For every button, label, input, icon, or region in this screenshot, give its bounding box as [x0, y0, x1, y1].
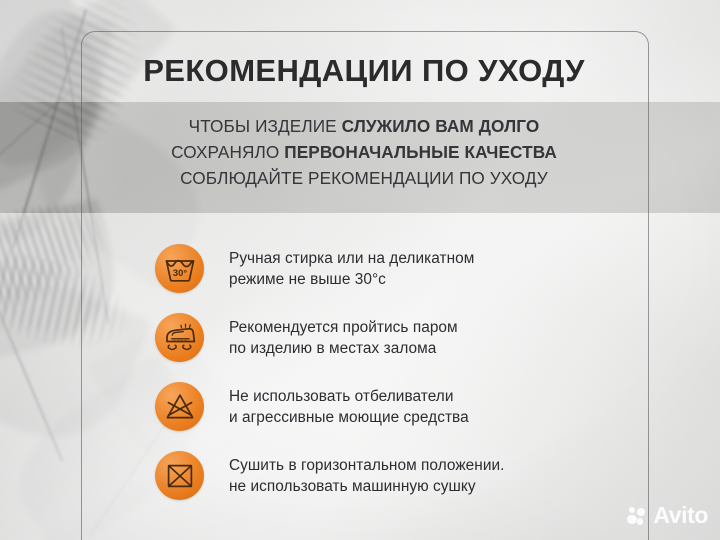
poster-content: РЕКОМЕНДАЦИИ ПО УХОДУ ЧТОБЫ ИЗДЕЛИЕ СЛУЖ… — [81, 31, 647, 540]
care-item-text: Не использовать отбеливатели и агрессивн… — [229, 386, 469, 428]
care-item-text: Рекомендуется пройтись паром по изделию … — [229, 317, 458, 359]
no-tumble-dry-icon — [155, 451, 204, 500]
care-instructions-poster: РЕКОМЕНДАЦИИ ПО УХОДУ ЧТОБЫ ИЗДЕЛИЕ СЛУЖ… — [0, 0, 720, 540]
care-text-line-2: и агрессивные моющие средства — [229, 407, 469, 428]
avito-watermark: Avito — [627, 505, 708, 526]
care-instruction-list: 30° Ручная стирка или на деликатном режи… — [155, 234, 647, 510]
subtitle-line-3: СОБЛЮДАЙТЕ РЕКОМЕНДАЦИИ ПО УХОДУ — [81, 165, 647, 191]
care-text-line-1: Рекомендуется пройтись паром — [229, 317, 458, 338]
care-item-text: Сушить в горизонтальном положении. не ис… — [229, 455, 504, 497]
care-text-line-2: режиме не выше 30°с — [229, 269, 474, 290]
subtitle-line-2-bold: ПЕРВОНАЧАЛЬНЫЕ КАЧЕСТВА — [284, 142, 557, 162]
hand-wash-30-icon: 30° — [155, 244, 204, 293]
hand-wash-temperature-label: 30° — [172, 267, 186, 278]
care-item-no-bleach: Не использовать отбеливатели и агрессивн… — [155, 372, 647, 441]
care-text-line-1: Не использовать отбеливатели — [229, 386, 469, 407]
care-item-steam-iron: Рекомендуется пройтись паром по изделию … — [155, 303, 647, 372]
avito-brand-label: Avito — [653, 505, 708, 526]
steam-iron-icon — [155, 313, 204, 362]
care-text-line-2: по изделию в местах залома — [229, 338, 458, 359]
subtitle-line-1: ЧТОБЫ ИЗДЕЛИЕ СЛУЖИЛО ВАМ ДОЛГО — [81, 113, 647, 139]
subtitle-line-2: СОХРАНЯЛО ПЕРВОНАЧАЛЬНЫЕ КАЧЕСТВА — [81, 139, 647, 165]
page-title: РЕКОМЕНДАЦИИ ПО УХОДУ — [81, 53, 647, 89]
care-text-line-2: не использовать машинную сушку — [229, 476, 504, 497]
care-item-text: Ручная стирка или на деликатном режиме н… — [229, 248, 474, 290]
no-bleach-icon — [155, 382, 204, 431]
avito-dots-icon — [627, 505, 648, 526]
subtitle-block: ЧТОБЫ ИЗДЕЛИЕ СЛУЖИЛО ВАМ ДОЛГО СОХРАНЯЛ… — [81, 113, 647, 191]
subtitle-line-1-bold: СЛУЖИЛО ВАМ ДОЛГО — [342, 116, 540, 136]
care-item-hand-wash: 30° Ручная стирка или на деликатном режи… — [155, 234, 647, 303]
care-text-line-1: Сушить в горизонтальном положении. — [229, 455, 504, 476]
subtitle-line-2-plain: СОХРАНЯЛО — [171, 142, 284, 162]
subtitle-line-1-plain: ЧТОБЫ ИЗДЕЛИЕ — [189, 116, 342, 136]
care-item-no-tumble-dry: Сушить в горизонтальном положении. не ис… — [155, 441, 647, 510]
care-text-line-1: Ручная стирка или на деликатном — [229, 248, 474, 269]
